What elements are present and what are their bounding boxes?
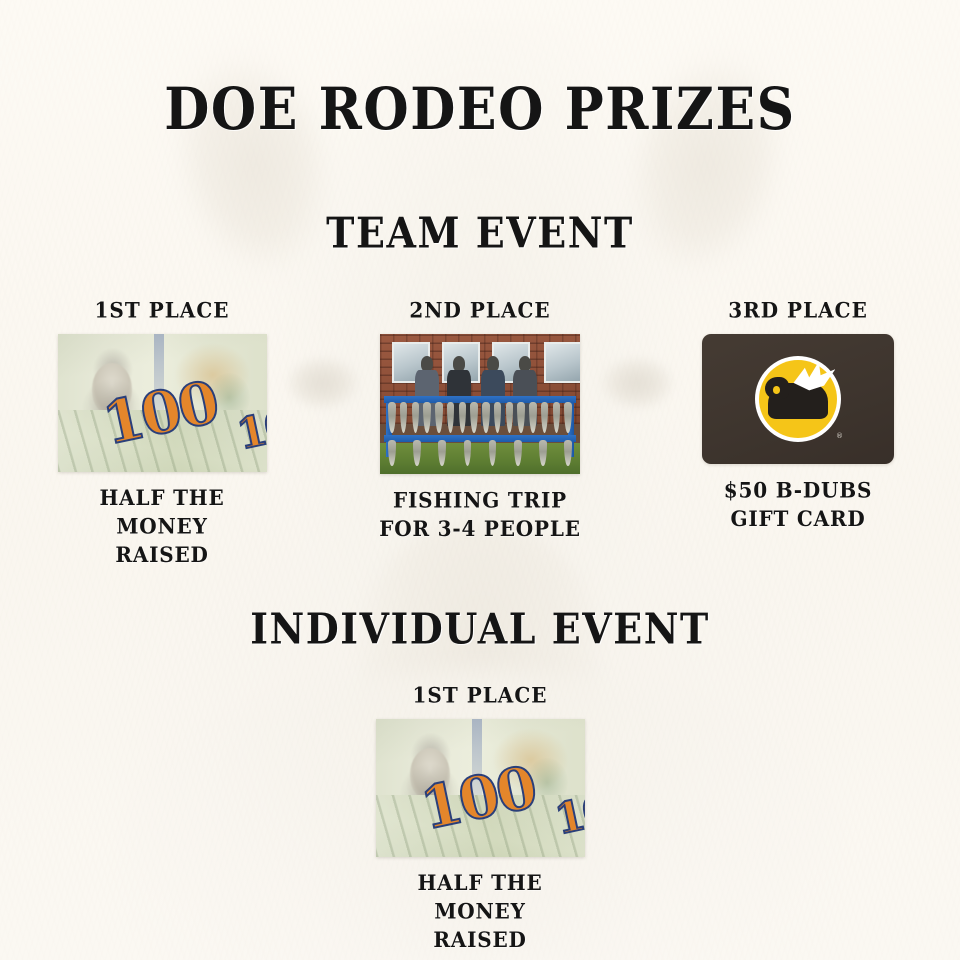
prize-desc-line2: RAISED (56, 541, 268, 570)
place-label-individual-1st: 1ST PLACE (413, 684, 548, 705)
buffalo-icon (768, 383, 827, 419)
fish (494, 402, 502, 433)
fish (470, 402, 478, 433)
fish (423, 402, 431, 433)
fish (517, 402, 525, 433)
fish (388, 440, 396, 465)
fish (400, 402, 408, 433)
buffalo-wild-wings-logo-icon: ® (759, 360, 837, 438)
fish (388, 402, 396, 433)
fish (447, 402, 455, 433)
team-prize-row: 1ST PLACE 100 100 HALF THE MONEY RAISED (0, 300, 960, 567)
fish (413, 440, 421, 465)
fish (539, 440, 547, 465)
place-label-team-2nd: 2ND PLACE (409, 299, 550, 320)
prize-description-team-1st: HALF THE MONEY RAISED (56, 484, 268, 570)
fish (412, 402, 420, 433)
prize-desc-line1: HALF THE MONEY (417, 870, 542, 924)
section-heading-team: TEAM EVENT (0, 212, 960, 254)
money-photo-team-1st: 100 100 (58, 334, 267, 472)
fish (506, 402, 514, 433)
prize-card-team-1st: 1ST PLACE 100 100 HALF THE MONEY RAISED (56, 300, 268, 567)
fish (564, 440, 572, 465)
fish (514, 440, 522, 465)
section-heading-individual: INDIVIDUAL EVENT (0, 608, 960, 650)
prize-desc-line2: FOR 3-4 PEOPLE (379, 515, 581, 544)
fish (529, 402, 537, 433)
registered-trademark-mark: ® (836, 432, 843, 440)
fishing-photo-team-2nd (380, 334, 580, 474)
fish (464, 440, 472, 465)
fish (482, 402, 490, 433)
prize-card-team-2nd: 2ND PLACE (374, 300, 586, 567)
fish (564, 402, 572, 433)
individual-prize-row: 1ST PLACE 100 100 HALF THE MONEY RAISED (0, 685, 960, 952)
money-photo-individual-1st: 100 100 (376, 719, 585, 857)
prize-card-team-3rd: 3RD PLACE ® $50 B-DUBS GIFT CARD (692, 300, 904, 567)
prize-description-individual-1st: HALF THE MONEY RAISED (374, 869, 586, 955)
fish (541, 402, 549, 433)
place-label-team-3rd: 3RD PLACE (728, 299, 868, 320)
prize-description-team-3rd: $50 B-DUBS GIFT CARD (724, 476, 872, 533)
prize-description-team-2nd: FISHING TRIP FOR 3-4 PEOPLE (379, 486, 581, 543)
fish-row (388, 440, 572, 465)
prize-desc-line1: HALF THE MONEY (99, 485, 224, 539)
fish-row (388, 402, 572, 433)
prize-desc-line2: GIFT CARD (724, 505, 872, 534)
fish (438, 440, 446, 465)
prize-desc-line2: RAISED (374, 926, 586, 955)
page-title: DOE RODEO PRIZES (0, 81, 960, 139)
prize-poster: DOE RODEO PRIZES TEAM EVENT 1ST PLACE 10… (0, 0, 960, 960)
gift-card-team-3rd: ® (702, 334, 894, 464)
place-label-team-1st: 1ST PLACE (95, 299, 230, 320)
fish (435, 402, 443, 433)
fish (553, 402, 561, 433)
fish (489, 440, 497, 465)
fish (459, 402, 467, 433)
building-window (544, 342, 580, 382)
prize-desc-line1: FISHING TRIP (393, 487, 567, 512)
prize-card-individual-1st: 1ST PLACE 100 100 HALF THE MONEY RAISED (374, 685, 586, 952)
prize-desc-line1: $50 B-DUBS (724, 477, 872, 502)
